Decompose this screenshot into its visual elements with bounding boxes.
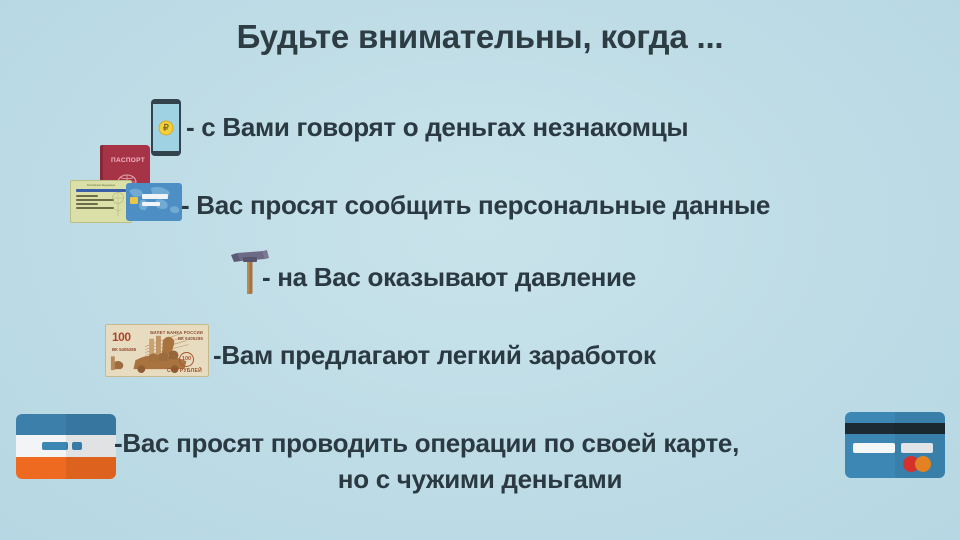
banknote-100-rubles-icon: 100 БИЛЕТ БАНКА РОССИИ ВК 5405285 ВК 540… <box>105 324 209 377</box>
bullet-line-5-text: -Вас просят проводить операции по своей … <box>114 428 739 459</box>
bullet-line-4-text: -Вам предлагают легкий заработок <box>213 340 656 371</box>
id-card-field <box>76 195 98 197</box>
ruble-coin-icon: ₽ <box>159 120 174 135</box>
banknote-serial: ВК 5405285 <box>112 347 136 352</box>
page-title: Будьте внимательны, когда ... <box>0 18 960 56</box>
card-chip-icon <box>130 197 138 204</box>
banknote-denomination: 100 <box>112 330 131 344</box>
id-card-watermark-icon <box>109 191 127 219</box>
personal-documents-icon: ПАСПОРТ Российская Федерация <box>70 145 182 225</box>
slide-canvas: Будьте внимательны, когда ... ₽ - с Вами… <box>0 0 960 540</box>
phone-screen: ₽ <box>153 104 179 151</box>
card-field-1 <box>42 442 68 450</box>
bullet-line-1-text: - с Вами говорят о деньгах незнакомцы <box>186 112 688 143</box>
id-card-field <box>76 203 98 205</box>
banknote-bank-line1: БИЛЕТ БАНКА РОССИИ <box>150 330 203 335</box>
banknote-seal: 100 <box>179 352 194 367</box>
bullet-line-3-text: - на Вас оказывают давление <box>262 262 636 293</box>
id-card-header: Российская Федерация <box>74 184 128 187</box>
bullet-line-2-text: - Вас просят сообщить персональные данны… <box>181 190 770 221</box>
passport-label: ПАСПОРТ <box>103 157 153 164</box>
card-field-1 <box>142 194 168 199</box>
id-card-icon: Российская Федерация <box>70 180 132 223</box>
banknote-bank-line2: ВК 5405285 <box>178 336 203 341</box>
bank-card-icon <box>126 183 182 221</box>
card-field-1 <box>853 443 895 453</box>
banknote-bottom-text: СТО РУБЛЕЙ <box>167 368 202 374</box>
banknote-bank-text: БИЛЕТ БАНКА РОССИИ ВК 5405285 <box>150 330 203 342</box>
card-field-2 <box>142 202 160 206</box>
bullet-line-5-text-second: но с чужими деньгами <box>0 464 960 495</box>
